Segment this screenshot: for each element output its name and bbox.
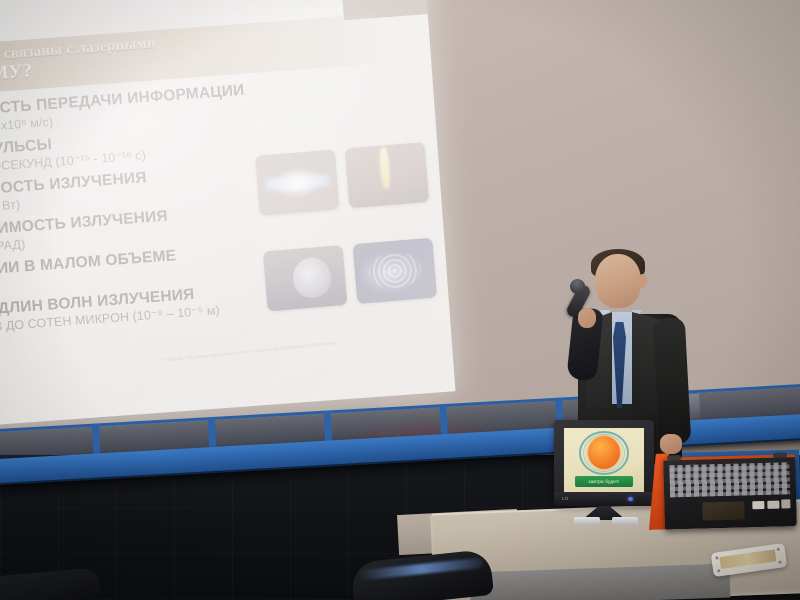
logo-caption: завтра будет! — [575, 476, 633, 487]
laptop-sticker — [767, 501, 779, 509]
monitor-foot-left — [574, 517, 600, 525]
projection-screen: …ций связаны с лазерными …ЕМУ? …КОРОСТЬ … — [0, 0, 455, 428]
speaker-head — [595, 254, 641, 308]
speaker-ear — [638, 274, 647, 288]
plasma-swirl-image — [352, 238, 437, 304]
speaker-right-arm — [653, 317, 692, 445]
desk-monitor[interactable]: завтра будет! LG — [554, 420, 658, 524]
laser-beam-focus-image — [255, 149, 340, 215]
monitor-foot-right — [612, 517, 638, 525]
speaker-right-hand — [660, 434, 682, 454]
slide-bullet-list: …КОРОСТЬ ПЕРЕДАЧИ ИНФОРМАЦИИ …ВЕТА (3х10… — [0, 74, 255, 335]
speaker-left-hand — [578, 308, 596, 328]
chair-highlight — [359, 558, 483, 581]
gadget-screw — [778, 560, 781, 563]
laptop-touchpad[interactable] — [702, 501, 744, 520]
slide-image-grid — [255, 141, 447, 331]
gadget-screw — [715, 556, 718, 559]
gadget-screw — [777, 548, 780, 551]
laptop-sticker — [752, 501, 764, 509]
satellite-dish-antenna-image — [263, 245, 348, 311]
laptop-sticker — [781, 499, 790, 508]
gadget-screw — [717, 569, 720, 572]
laptop-keyboard[interactable] — [669, 462, 790, 497]
laptop-hinge-right — [773, 452, 787, 457]
desk-gadget-inner — [719, 549, 776, 569]
logo-sun-icon — [588, 436, 620, 469]
laptop-hinge-left — [667, 455, 681, 460]
monitor-screen: завтра будет! — [564, 428, 644, 492]
monitor-power-led[interactable] — [628, 497, 633, 501]
monitor-chin — [554, 492, 654, 506]
slide-footer-credit: ГГ Серов, Тенденции лазерной оптики и те… — [162, 334, 391, 362]
laptop[interactable] — [647, 450, 800, 532]
monitor-brand-label: LG — [562, 496, 569, 501]
presentation-photo: …ций связаны с лазерными …ЕМУ? …КОРОСТЬ … — [0, 0, 800, 600]
laser-cutting-machine-image — [345, 142, 430, 208]
